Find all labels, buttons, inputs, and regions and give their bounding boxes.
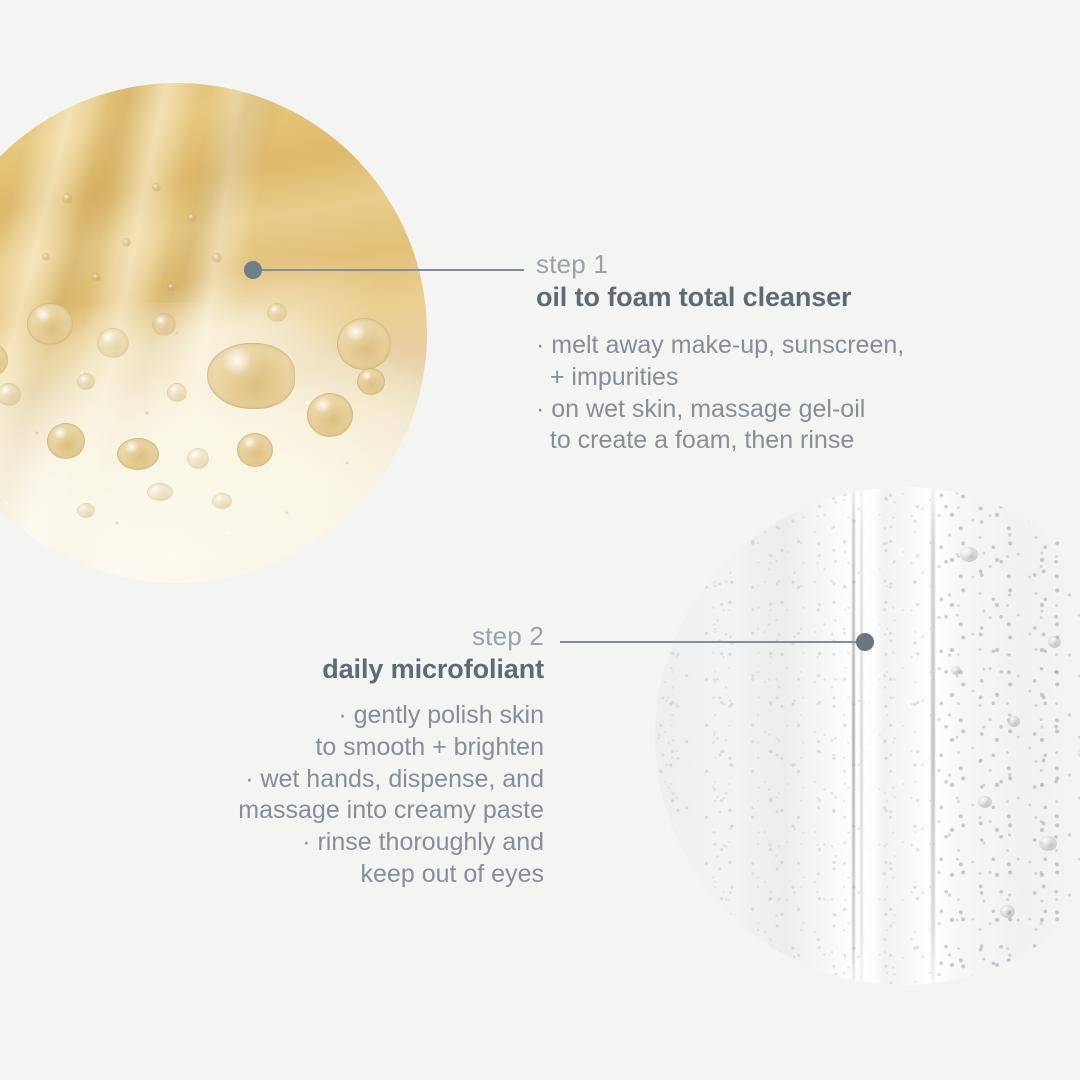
bullet-line: massage into creamy paste <box>160 795 544 827</box>
foam-bubble <box>167 383 187 402</box>
foam-bubble <box>147 483 173 501</box>
step2-connector-line <box>560 641 860 643</box>
foam-bubble <box>27 303 73 345</box>
powder-droplet-field <box>934 487 1080 985</box>
bullet-line: · on wet skin, massage gel-oil <box>536 394 904 426</box>
oil-bubble <box>187 213 197 223</box>
bullet-line: · gently polish skin <box>160 700 544 732</box>
infographic-canvas: step 1 oil to foam total cleanser · melt… <box>0 0 1080 1080</box>
powder-ridge-highlight <box>864 487 880 985</box>
step1-title: oil to foam total cleanser <box>536 281 904 314</box>
step2-text-block: step 2 daily microfoliant · gently polis… <box>160 622 544 891</box>
step1-connector-dot <box>244 261 262 279</box>
step1-product-swatch-image <box>0 83 427 583</box>
oil-bubble <box>92 273 101 282</box>
bullet-line: · rinse thoroughly and <box>160 827 544 859</box>
oil-bubble <box>62 193 73 204</box>
droplet <box>1000 905 1015 918</box>
powder-grain-texture <box>655 487 934 985</box>
foam-bubble <box>207 343 295 409</box>
foam-bubble <box>357 368 385 395</box>
bullet-line: to smooth + brighten <box>160 732 544 764</box>
foam-bubble <box>187 448 209 469</box>
foam-bubble <box>152 313 176 336</box>
bullet-line: · wet hands, dispense, and <box>160 764 544 796</box>
foam-bubble <box>307 393 353 437</box>
foam-bubble <box>337 318 391 370</box>
bullet-line: · melt away make-up, sunscreen, <box>536 330 904 362</box>
foam-bubble <box>77 373 95 390</box>
step2-label: step 2 <box>160 622 544 651</box>
powder-ridge-line <box>852 487 855 985</box>
droplet <box>978 796 992 808</box>
powder-ridge-line <box>860 487 863 985</box>
foam-bubble <box>212 493 232 509</box>
step2-connector-dot <box>856 633 874 651</box>
bullet-line: to create a foam, then rinse <box>536 425 904 457</box>
foam-bubble <box>97 328 129 358</box>
foam-bubble <box>237 433 273 467</box>
bullet-line: + impurities <box>536 362 904 394</box>
foam-bubble <box>117 438 159 470</box>
foam-bubble <box>267 303 287 322</box>
step1-text-block: step 1 oil to foam total cleanser · melt… <box>536 250 904 457</box>
step1-label: step 1 <box>536 250 904 279</box>
step2-product-swatch-image <box>655 487 1080 985</box>
step2-bullet-list: · gently polish skin to smooth + brighte… <box>160 700 544 891</box>
bullet-line: keep out of eyes <box>160 859 544 891</box>
oil-bubble <box>167 283 176 292</box>
step2-title: daily microfoliant <box>160 653 544 686</box>
droplet <box>1039 836 1057 851</box>
step1-connector-line <box>262 269 524 271</box>
droplet <box>960 547 978 562</box>
oil-bubble <box>152 183 161 192</box>
foam-bubble <box>77 503 95 518</box>
step1-bullet-list: · melt away make-up, sunscreen, + impuri… <box>536 330 904 457</box>
oil-bubble <box>122 238 131 247</box>
oil-bubble <box>42 253 50 261</box>
oil-bubble <box>212 253 222 263</box>
foam-bubble <box>47 423 85 459</box>
